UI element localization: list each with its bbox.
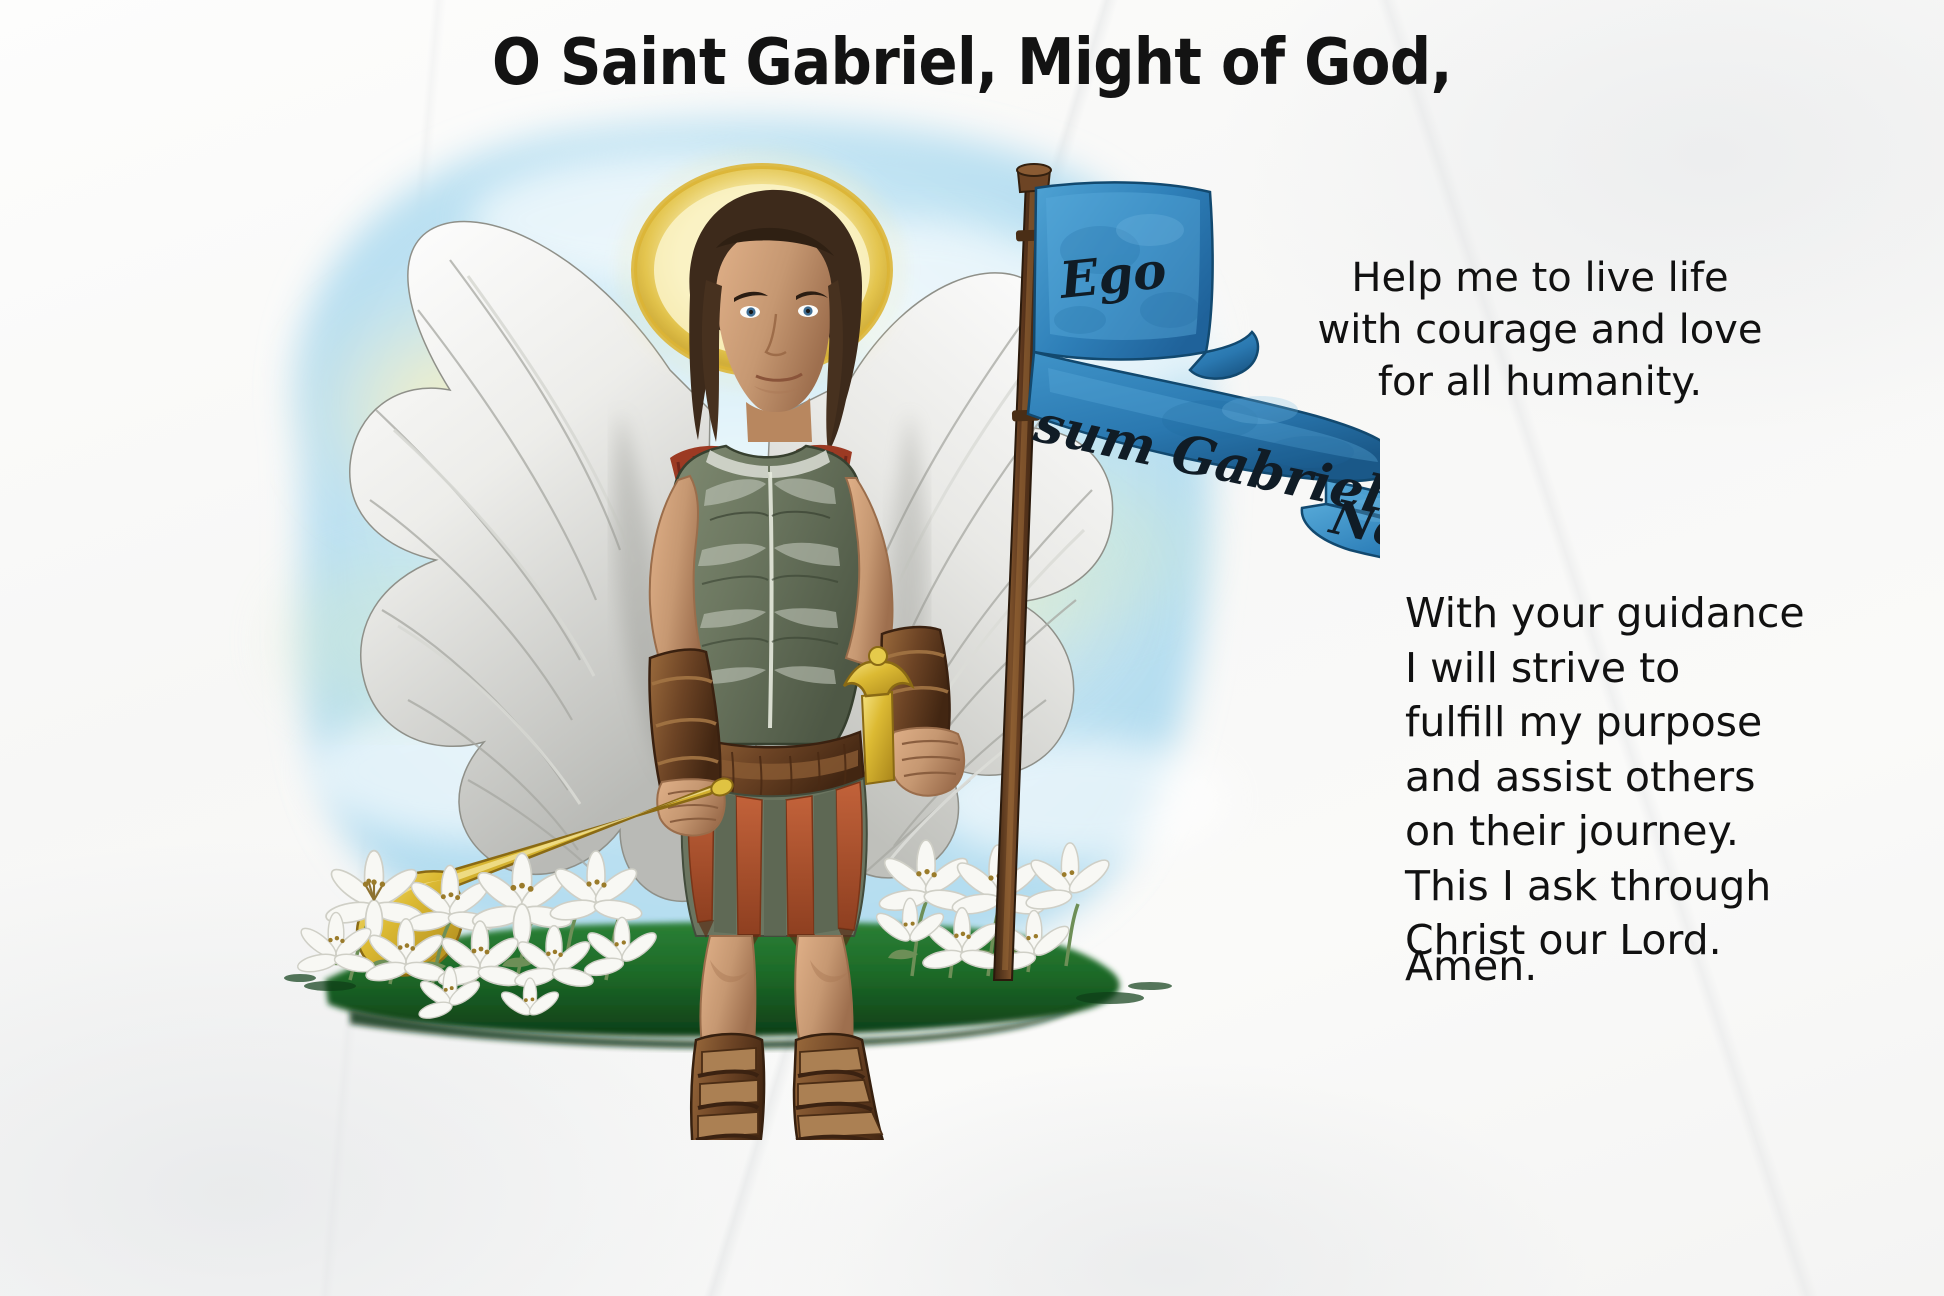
boots [691, 1034, 897, 1140]
prayer-verse-bottom: With your guidance I will strive to fulf… [1405, 586, 1875, 968]
page-title: O Saint Gabriel, Might of God, [0, 26, 1944, 100]
svg-text:Ego: Ego [1055, 240, 1169, 310]
illustration-saint-gabriel: Ego sum Gabriel. Ne timeas. [150, 80, 1380, 1140]
prayer-amen: Amen. [1405, 940, 1875, 993]
prayer-verse-top: Help me to live life with courage and lo… [1300, 252, 1780, 408]
angel-head [689, 190, 862, 456]
